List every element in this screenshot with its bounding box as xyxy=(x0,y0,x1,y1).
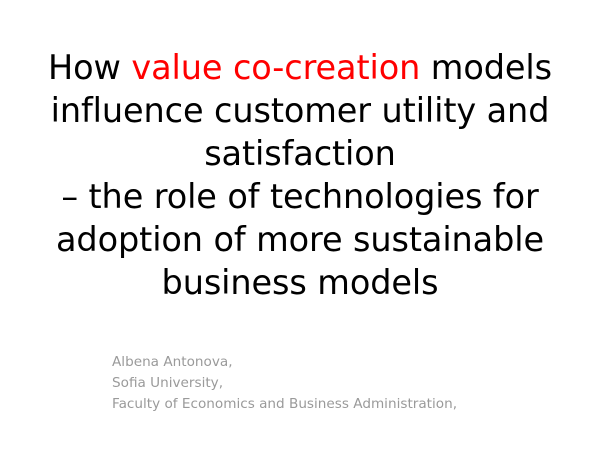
title-line-6: business models xyxy=(14,261,586,304)
author-institution: Sofia University, xyxy=(112,373,552,394)
title-line-1: How value co-creation models xyxy=(14,46,586,89)
author-name: Albena Antonova, xyxy=(112,352,552,373)
author-affiliation-block: Albena Antonova, Sofia University, Facul… xyxy=(112,352,552,415)
title-line-1-prefix: How xyxy=(48,48,131,87)
title-line-3: satisfaction xyxy=(14,132,586,175)
title-line-4: – the role of technologies for xyxy=(14,175,586,218)
presentation-slide: How value co-creation models influence c… xyxy=(0,0,600,450)
title-line-1-suffix: models xyxy=(420,48,552,87)
author-department: Faculty of Economics and Business Admini… xyxy=(112,394,552,415)
title-line-2: influence customer utility and xyxy=(14,89,586,132)
title-line-5: adoption of more sustainable xyxy=(14,218,586,261)
title-highlight-value-co-creation: value co-creation xyxy=(131,48,420,87)
slide-title: How value co-creation models influence c… xyxy=(14,46,586,304)
